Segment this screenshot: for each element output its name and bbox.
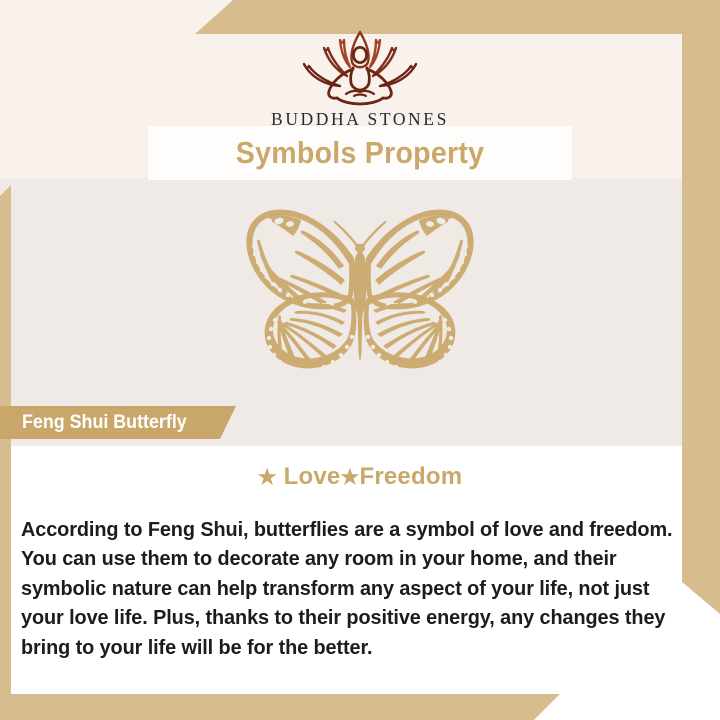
feature-label-banner: Feng Shui Butterfly [0, 406, 236, 439]
lotus-meditation-figure-icon [284, 28, 436, 106]
infographic-page: BUDDHA STONES Symbols Property [0, 0, 720, 720]
content-subheading: ★ Love★Freedom [0, 463, 720, 491]
title-banner: Symbols Property [148, 126, 572, 180]
star-icon-left: ★ [258, 466, 277, 489]
page-title: Symbols Property [236, 135, 485, 171]
content-paragraph: According to Feng Shui, butterflies are … [21, 515, 673, 663]
feature-label: Feng Shui Butterfly [22, 412, 187, 434]
feature-image [0, 198, 720, 408]
subheading-love: Love [277, 463, 341, 490]
brand-logo: BUDDHA STONES [0, 28, 720, 130]
subheading-freedom: Freedom [359, 463, 462, 490]
butterfly-icon [205, 198, 515, 403]
star-icon-middle: ★ [340, 466, 359, 489]
bottom-border-band [0, 694, 560, 720]
